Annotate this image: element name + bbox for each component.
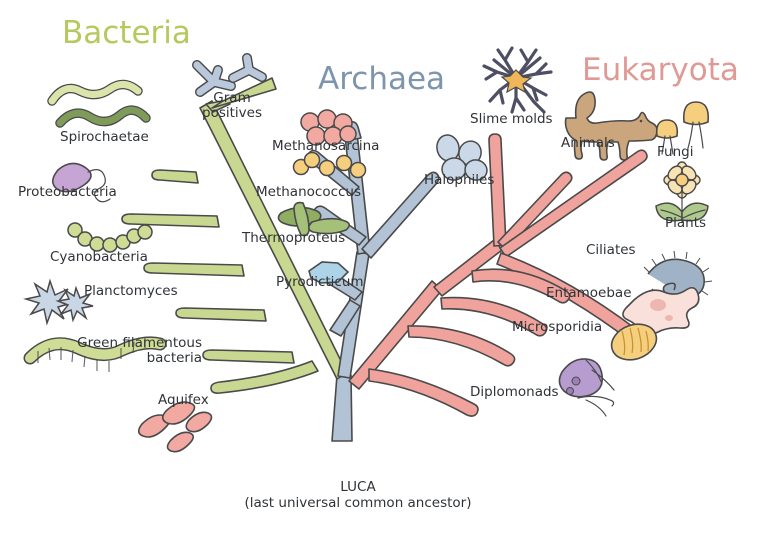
taxon-label-aquifex: Aquifex bbox=[158, 393, 209, 408]
taxon-label-ciliates: Ciliates bbox=[586, 243, 636, 258]
luca-sublabel: (last universal common ancestor) bbox=[200, 496, 516, 511]
taxon-label-cyanobacteria: Cyanobacteria bbox=[50, 250, 148, 265]
domain-title-eukaryota: Eukaryota bbox=[582, 53, 739, 87]
taxon-label-proteobacteria: Proteobacteria bbox=[18, 185, 117, 200]
taxon-label-gram-positives: Gram positives bbox=[188, 91, 276, 121]
taxon-label-slime-molds: Slime molds bbox=[470, 112, 553, 127]
planctomyces-star-icon bbox=[26, 281, 93, 323]
taxon-label-halophiles: Halophiles bbox=[424, 173, 494, 188]
slime-mold-icon bbox=[484, 48, 551, 112]
domain-title-bacteria: Bacteria bbox=[62, 16, 191, 50]
taxon-label-thermoproteus: Thermoproteus bbox=[242, 231, 345, 246]
taxon-label-animals: Animals bbox=[561, 136, 615, 151]
cyanobacteria-chain-icon bbox=[68, 223, 152, 252]
taxon-label-plants: Plants bbox=[665, 216, 706, 231]
luca-trunk bbox=[332, 375, 352, 441]
aquifex-rods-icon bbox=[139, 402, 212, 452]
taxon-label-diplomonads: Diplomonads bbox=[470, 385, 559, 400]
taxon-label-green-filamentous: Green filamentous bacteria bbox=[40, 336, 202, 366]
tree-of-life-diagram: .bbr{fill:#c9d891;stroke:#4a4a4a;stroke-… bbox=[0, 0, 768, 535]
taxon-label-microsporidia: Microsporidia bbox=[512, 320, 602, 335]
taxon-label-fungi: Fungi bbox=[657, 145, 693, 160]
taxon-label-pyrodicticum: Pyrodicticum bbox=[276, 275, 364, 290]
flower-plant-icon bbox=[656, 162, 708, 222]
taxon-label-entamoebae: Entamoebae bbox=[546, 286, 632, 301]
taxon-label-methanococcus: Methanococcus bbox=[256, 185, 361, 200]
domain-title-archaea: Archaea bbox=[318, 62, 445, 96]
luca-label: LUCA bbox=[230, 480, 486, 495]
taxon-label-planctomyces: Planctomyces bbox=[84, 284, 178, 299]
spirochete-icon bbox=[52, 84, 146, 123]
diplomonad-icon bbox=[559, 359, 614, 416]
taxon-label-methanosarcina: Methanosarcina bbox=[272, 139, 379, 154]
taxon-label-spirochaetae: Spirochaetae bbox=[60, 130, 149, 145]
